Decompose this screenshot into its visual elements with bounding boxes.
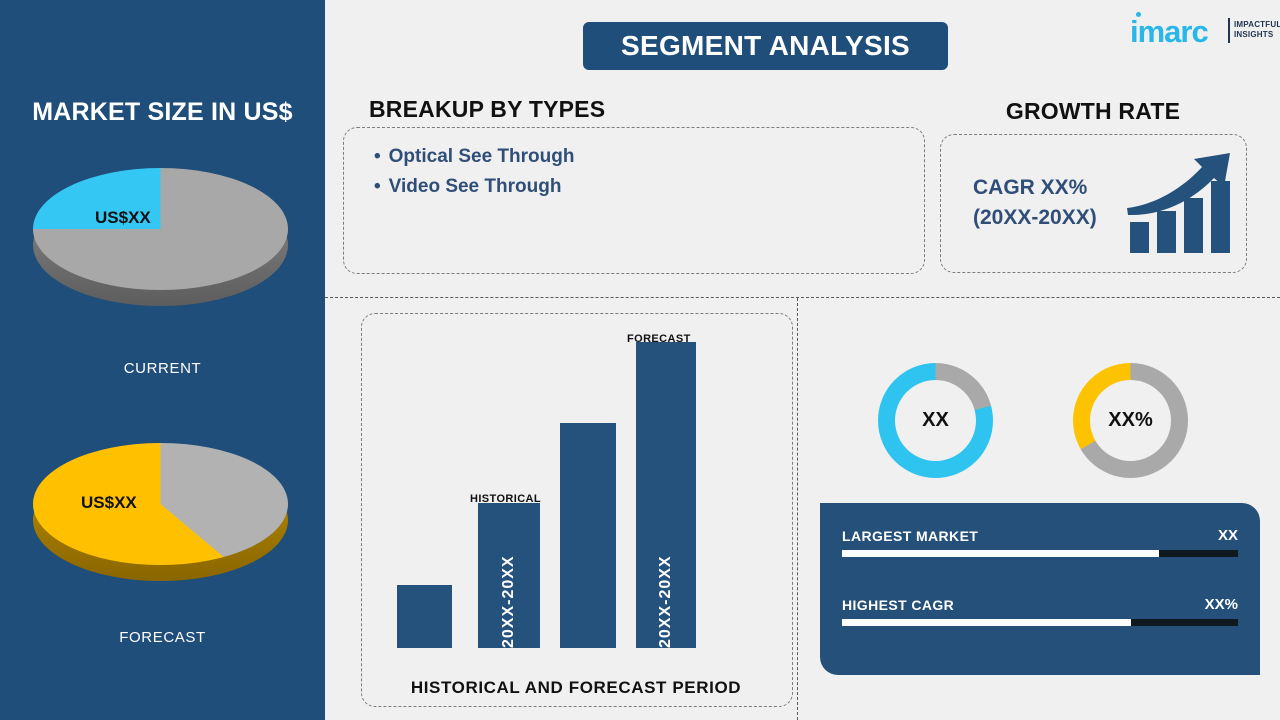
bar-2-inner-label: 20XX-20XX	[500, 560, 518, 648]
vertical-divider	[797, 298, 798, 720]
bar-2-label: HISTORICAL	[470, 493, 541, 505]
logo-separator-icon	[1228, 18, 1230, 43]
donut-chart-percent-label: XX%	[1090, 380, 1171, 461]
imarc-logo: imarc IMPACTFUL INSIGHTS	[1130, 12, 1270, 52]
stat-label: LARGEST MARKET	[842, 528, 978, 544]
forecast-pie-value: US$XX	[81, 493, 137, 513]
stat-progress-track	[842, 619, 1238, 626]
types-list: Optical See Through Video See Through	[374, 142, 574, 202]
bar-3	[560, 423, 616, 648]
logo-tagline: IMPACTFUL INSIGHTS	[1234, 20, 1280, 40]
donut-chart-value-label: XX	[895, 380, 976, 461]
cagr-line2: (20XX-20XX)	[973, 203, 1097, 233]
bar-4-inner-label: 20XX-20XX	[657, 560, 675, 648]
stat-progress-track	[842, 550, 1238, 557]
stat-value: XX	[1218, 527, 1238, 544]
segment-analysis-infographic: MARKET SIZE IN US$ US$XX CURRENT US$XX F…	[0, 0, 1280, 720]
forecast-pie-top	[33, 443, 288, 565]
types-heading: BREAKUP BY TYPES	[369, 96, 605, 123]
bar-1	[397, 585, 452, 648]
types-box: Optical See Through Video See Through	[343, 127, 925, 274]
list-item: Video See Through	[374, 172, 574, 202]
bar-4-label: FORECAST	[627, 333, 691, 345]
growth-arrow-chart-icon	[1124, 145, 1239, 257]
logo-wordmark: imarc	[1130, 16, 1208, 47]
page-title: SEGMENT ANALYSIS	[583, 22, 948, 70]
forecast-pie-caption: FORECAST	[0, 629, 325, 646]
horizontal-divider	[325, 297, 1280, 298]
bar-chart-xlabel: HISTORICAL AND FORECAST PERIOD	[361, 678, 791, 698]
logo-tagline-line1: IMPACTFUL	[1234, 20, 1280, 30]
market-size-panel: MARKET SIZE IN US$ US$XX CURRENT US$XX F…	[0, 0, 325, 720]
stat-progress-fill	[842, 550, 1159, 557]
growth-box: CAGR XX% (20XX-20XX)	[940, 134, 1247, 273]
cagr-text: CAGR XX% (20XX-20XX)	[973, 173, 1097, 233]
stats-card: LARGEST MARKET XX HIGHEST CAGR XX%	[820, 503, 1260, 675]
current-pie-chart: US$XX CURRENT	[33, 168, 288, 318]
stat-label: HIGHEST CAGR	[842, 597, 954, 613]
market-size-title: MARKET SIZE IN US$	[0, 98, 325, 127]
donut-chart-percent: XX%	[1073, 363, 1188, 478]
list-item: Optical See Through	[374, 142, 574, 172]
bar-chart: HISTORICAL 20XX-20XX FORECAST 20XX-20XX …	[361, 313, 791, 705]
cagr-line1: CAGR XX%	[973, 173, 1097, 203]
logo-tagline-line2: INSIGHTS	[1234, 30, 1280, 40]
current-pie-top	[33, 168, 288, 290]
stat-value: XX%	[1205, 596, 1238, 613]
forecast-pie-3d	[33, 443, 288, 571]
current-pie-value: US$XX	[95, 208, 151, 228]
main-content: SEGMENT ANALYSIS imarc IMPACTFUL INSIGHT…	[325, 0, 1280, 720]
stat-progress-fill	[842, 619, 1131, 626]
current-pie-3d	[33, 168, 288, 296]
donut-chart-value: XX	[878, 363, 993, 478]
growth-heading: GROWTH RATE	[938, 98, 1248, 125]
forecast-pie-chart: US$XX FORECAST	[33, 443, 288, 593]
current-pie-caption: CURRENT	[0, 360, 325, 377]
